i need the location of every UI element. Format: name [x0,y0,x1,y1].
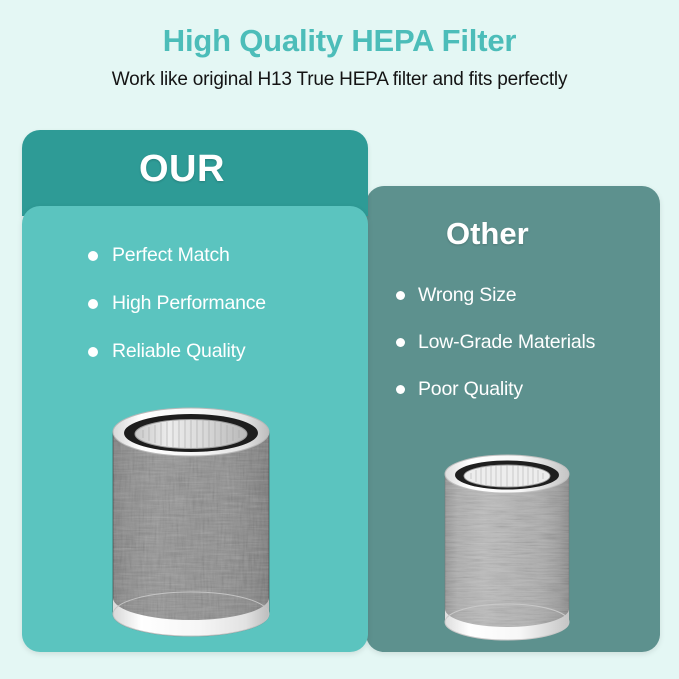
our-feature-label: Perfect Match [112,244,230,266]
other-filter-top-rim [445,455,569,493]
list-item: High Performance [80,292,370,315]
bullet-icon [396,385,405,394]
other-panel-title: Other [446,216,529,252]
our-panel-title: OUR [139,148,225,191]
our-feature-label: Reliable Quality [112,340,245,362]
other-feature-label: Low-Grade Materials [418,331,595,353]
our-panel-header: OUR [22,130,368,216]
bullet-icon [396,338,405,347]
comparison-section: Other Wrong Size Low-Grade Materials Poo… [0,0,679,679]
our-filter-top-rim [113,408,269,456]
other-feature-label: Wrong Size [418,284,516,306]
list-item: Reliable Quality [80,340,370,363]
other-feature-list: Wrong Size Low-Grade Materials Poor Qual… [388,284,656,425]
other-feature-label: Poor Quality [418,378,523,400]
our-feature-label: High Performance [112,292,266,314]
bullet-icon [396,291,405,300]
bullet-icon [88,299,98,309]
bullet-icon [88,347,98,357]
list-item: Poor Quality [388,378,656,401]
list-item: Perfect Match [80,244,370,267]
other-filter-image [437,442,577,650]
bullet-icon [88,251,98,261]
our-filter-image [103,392,279,646]
list-item: Wrong Size [388,284,656,307]
list-item: Low-Grade Materials [388,331,656,354]
our-feature-list: Perfect Match High Performance Reliable … [80,244,370,388]
